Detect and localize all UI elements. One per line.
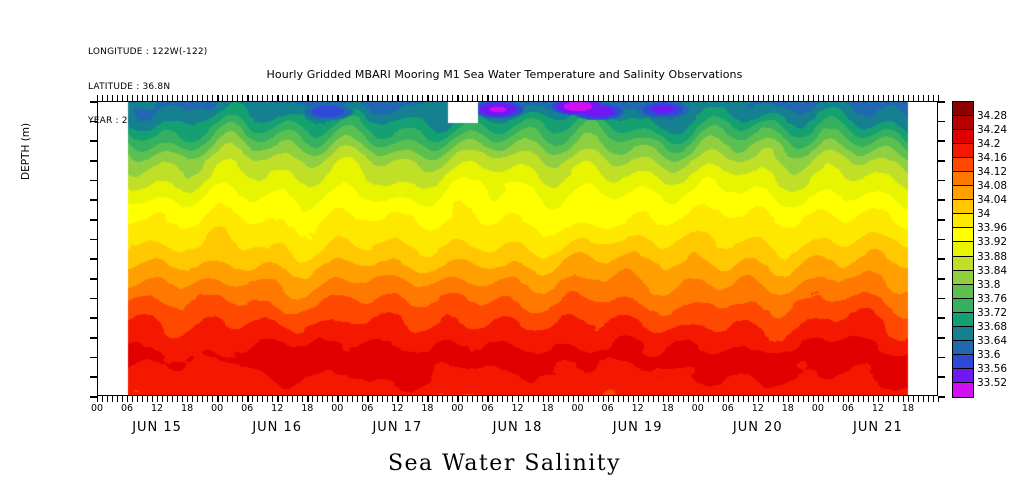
x-tick bbox=[477, 95, 478, 101]
x-tick bbox=[407, 95, 408, 101]
x-tick bbox=[803, 95, 804, 101]
x-tick bbox=[482, 95, 483, 101]
x-tick bbox=[137, 396, 138, 402]
x-tick bbox=[142, 396, 143, 402]
x-tick bbox=[698, 95, 699, 101]
x-tick bbox=[758, 396, 759, 402]
x-tick bbox=[708, 95, 709, 101]
x-tick bbox=[763, 95, 764, 101]
x-tick bbox=[287, 396, 288, 402]
colorbar-band bbox=[953, 228, 973, 242]
x-tick bbox=[157, 95, 158, 101]
x-tick bbox=[317, 396, 318, 402]
x-tick bbox=[422, 396, 423, 402]
x-tick bbox=[778, 396, 779, 402]
x-tick bbox=[402, 95, 403, 101]
colorbar-tick-label: 33.96 bbox=[977, 222, 1007, 234]
x-tick bbox=[518, 396, 519, 402]
x-tick bbox=[397, 95, 398, 101]
x-tick bbox=[372, 396, 373, 402]
x-tick bbox=[758, 95, 759, 101]
x-tick bbox=[312, 396, 313, 402]
x-tick bbox=[858, 95, 859, 101]
x-tick bbox=[442, 95, 443, 101]
x-tick bbox=[843, 95, 844, 101]
x-tick bbox=[903, 396, 904, 402]
x-tick bbox=[603, 95, 604, 101]
x-tick bbox=[863, 396, 864, 402]
x-tick bbox=[232, 95, 233, 101]
x-hour-label: 06 bbox=[481, 403, 493, 414]
x-tick bbox=[447, 95, 448, 101]
x-tick bbox=[312, 95, 313, 101]
colorbar-band bbox=[953, 144, 973, 158]
x-day-label: JUN 16 bbox=[252, 420, 302, 435]
x-tick bbox=[708, 396, 709, 402]
x-tick bbox=[202, 396, 203, 402]
x-tick bbox=[583, 396, 584, 402]
x-hour-label: 06 bbox=[722, 403, 734, 414]
x-tick bbox=[568, 95, 569, 101]
x-tick bbox=[502, 396, 503, 402]
y-tick bbox=[938, 258, 945, 260]
x-axis-ticks-top bbox=[97, 95, 938, 101]
x-tick bbox=[728, 95, 729, 101]
x-hour-label: 18 bbox=[421, 403, 433, 414]
x-tick bbox=[523, 95, 524, 101]
x-tick bbox=[242, 95, 243, 101]
x-tick bbox=[623, 396, 624, 402]
x-tick bbox=[753, 95, 754, 101]
x-day-label: JUN 15 bbox=[132, 420, 182, 435]
x-tick bbox=[878, 95, 879, 101]
colorbar-tick-label: 33.64 bbox=[977, 335, 1007, 347]
x-tick bbox=[152, 396, 153, 402]
x-tick bbox=[347, 396, 348, 402]
x-tick bbox=[673, 95, 674, 101]
x-tick bbox=[102, 396, 103, 402]
x-tick bbox=[553, 396, 554, 402]
y-tick bbox=[938, 376, 945, 378]
x-tick bbox=[703, 396, 704, 402]
x-tick bbox=[382, 95, 383, 101]
x-tick bbox=[137, 95, 138, 101]
x-tick bbox=[743, 396, 744, 402]
x-tick bbox=[492, 396, 493, 402]
x-tick bbox=[688, 396, 689, 402]
x-tick bbox=[457, 396, 458, 402]
x-tick bbox=[247, 396, 248, 402]
x-tick bbox=[477, 396, 478, 402]
x-tick bbox=[392, 95, 393, 101]
x-tick bbox=[342, 396, 343, 402]
x-tick bbox=[257, 95, 258, 101]
x-tick bbox=[147, 396, 148, 402]
x-tick bbox=[467, 95, 468, 101]
y-tick bbox=[938, 199, 945, 201]
x-tick bbox=[643, 396, 644, 402]
x-tick bbox=[172, 95, 173, 101]
x-tick bbox=[518, 95, 519, 101]
y-tick bbox=[90, 140, 97, 142]
x-tick bbox=[653, 95, 654, 101]
x-hour-label: 12 bbox=[271, 403, 283, 414]
x-tick bbox=[598, 95, 599, 101]
x-tick bbox=[588, 95, 589, 101]
x-tick bbox=[272, 396, 273, 402]
x-tick bbox=[673, 396, 674, 402]
x-tick bbox=[377, 95, 378, 101]
x-tick bbox=[693, 396, 694, 402]
x-tick bbox=[773, 95, 774, 101]
x-tick bbox=[387, 95, 388, 101]
x-tick bbox=[242, 396, 243, 402]
x-tick bbox=[497, 95, 498, 101]
x-tick bbox=[808, 95, 809, 101]
x-hour-label: 06 bbox=[121, 403, 133, 414]
x-hour-label: 18 bbox=[301, 403, 313, 414]
colorbar-tick-label: 33.56 bbox=[977, 363, 1007, 375]
x-tick bbox=[573, 396, 574, 402]
x-tick bbox=[157, 396, 158, 402]
x-hour-label: 06 bbox=[361, 403, 373, 414]
x-tick bbox=[362, 396, 363, 402]
x-tick bbox=[322, 95, 323, 101]
x-tick bbox=[387, 396, 388, 402]
x-hour-label: 06 bbox=[241, 403, 253, 414]
x-tick bbox=[262, 95, 263, 101]
x-tick bbox=[928, 95, 929, 101]
longitude-label: LONGITUDE : 122W(-122) bbox=[88, 47, 208, 59]
colorbar-band bbox=[953, 271, 973, 285]
colorbar-band bbox=[953, 242, 973, 256]
x-tick bbox=[292, 396, 293, 402]
x-tick bbox=[733, 95, 734, 101]
x-tick bbox=[432, 95, 433, 101]
x-tick bbox=[918, 95, 919, 101]
x-tick bbox=[252, 95, 253, 101]
x-hour-label: 12 bbox=[151, 403, 163, 414]
x-tick bbox=[372, 95, 373, 101]
x-tick bbox=[643, 95, 644, 101]
x-axis-ticks-bottom bbox=[97, 396, 938, 402]
x-tick bbox=[908, 95, 909, 101]
x-hour-label: 12 bbox=[511, 403, 523, 414]
x-tick bbox=[147, 95, 148, 101]
latitude-label: LATITUDE : 36.8N bbox=[88, 82, 208, 94]
y-tick bbox=[938, 278, 945, 280]
x-tick bbox=[352, 396, 353, 402]
x-tick bbox=[367, 95, 368, 101]
x-tick bbox=[808, 396, 809, 402]
y-tick bbox=[938, 219, 945, 221]
x-tick bbox=[628, 396, 629, 402]
x-tick bbox=[913, 95, 914, 101]
x-tick bbox=[638, 396, 639, 402]
x-day-label: JUN 20 bbox=[733, 420, 783, 435]
x-tick bbox=[507, 396, 508, 402]
x-hour-label: 00 bbox=[211, 403, 223, 414]
x-tick bbox=[512, 396, 513, 402]
x-tick bbox=[337, 95, 338, 101]
x-tick bbox=[437, 95, 438, 101]
x-hour-label: 00 bbox=[331, 403, 343, 414]
x-tick bbox=[613, 95, 614, 101]
x-tick bbox=[97, 396, 98, 402]
x-hour-label: 06 bbox=[842, 403, 854, 414]
x-tick bbox=[397, 396, 398, 402]
x-hour-label: 12 bbox=[752, 403, 764, 414]
y-tick bbox=[938, 357, 945, 359]
x-tick bbox=[232, 396, 233, 402]
x-tick bbox=[97, 95, 98, 101]
x-tick bbox=[227, 95, 228, 101]
x-tick bbox=[327, 95, 328, 101]
colorbar bbox=[952, 101, 974, 398]
x-tick bbox=[788, 396, 789, 402]
x-hour-label: 12 bbox=[632, 403, 644, 414]
colorbar-tick-label: 34.12 bbox=[977, 166, 1007, 178]
x-tick bbox=[122, 396, 123, 402]
x-hour-label: 00 bbox=[812, 403, 824, 414]
x-tick bbox=[297, 396, 298, 402]
x-tick bbox=[237, 95, 238, 101]
x-tick bbox=[192, 95, 193, 101]
x-tick bbox=[487, 95, 488, 101]
colorbar-band bbox=[953, 355, 973, 369]
x-tick bbox=[227, 396, 228, 402]
y-tick bbox=[90, 101, 97, 103]
colorbar-tick-label: 34 bbox=[977, 208, 990, 220]
x-tick bbox=[187, 396, 188, 402]
x-tick bbox=[678, 95, 679, 101]
x-tick bbox=[788, 95, 789, 101]
x-tick bbox=[533, 95, 534, 101]
x-tick bbox=[898, 396, 899, 402]
x-tick bbox=[593, 396, 594, 402]
colorbar-tick-label: 34.24 bbox=[977, 124, 1007, 136]
colorbar-tick-label: 34.08 bbox=[977, 180, 1007, 192]
y-tick bbox=[938, 239, 945, 241]
x-tick bbox=[132, 396, 133, 402]
x-tick bbox=[282, 95, 283, 101]
x-tick bbox=[618, 95, 619, 101]
y-tick bbox=[938, 101, 945, 103]
x-tick bbox=[588, 396, 589, 402]
x-tick bbox=[703, 95, 704, 101]
x-tick bbox=[332, 95, 333, 101]
colorbar-band bbox=[953, 341, 973, 355]
x-tick bbox=[613, 396, 614, 402]
x-tick bbox=[122, 95, 123, 101]
x-tick bbox=[162, 396, 163, 402]
colorbar-band bbox=[953, 172, 973, 186]
x-tick bbox=[898, 95, 899, 101]
x-tick bbox=[833, 396, 834, 402]
x-tick bbox=[107, 95, 108, 101]
x-tick bbox=[553, 95, 554, 101]
variable-title: Sea Water Salinity bbox=[0, 451, 1009, 476]
y-tick bbox=[90, 278, 97, 280]
x-tick bbox=[543, 95, 544, 101]
x-tick bbox=[798, 396, 799, 402]
x-tick bbox=[723, 396, 724, 402]
colorbar-band bbox=[953, 383, 973, 397]
x-tick bbox=[107, 396, 108, 402]
x-tick bbox=[563, 95, 564, 101]
x-tick bbox=[282, 396, 283, 402]
x-tick bbox=[748, 95, 749, 101]
x-tick bbox=[793, 95, 794, 101]
x-hour-label: 00 bbox=[692, 403, 704, 414]
x-tick bbox=[648, 95, 649, 101]
x-tick bbox=[793, 396, 794, 402]
y-tick bbox=[90, 160, 97, 162]
x-tick bbox=[262, 396, 263, 402]
x-tick bbox=[212, 396, 213, 402]
x-tick bbox=[818, 95, 819, 101]
salinity-contour-field bbox=[97, 101, 938, 396]
x-tick bbox=[482, 396, 483, 402]
y-tick bbox=[938, 396, 945, 398]
x-tick bbox=[633, 95, 634, 101]
x-tick bbox=[182, 95, 183, 101]
colorbar-labels: 34.2834.2434.234.1634.1234.0834.043433.9… bbox=[977, 101, 1009, 398]
x-tick bbox=[633, 396, 634, 402]
x-tick bbox=[718, 95, 719, 101]
x-tick bbox=[462, 396, 463, 402]
x-tick bbox=[112, 396, 113, 402]
x-hour-label: 18 bbox=[782, 403, 794, 414]
colorbar-band bbox=[953, 327, 973, 341]
x-tick bbox=[352, 95, 353, 101]
y-tick bbox=[90, 317, 97, 319]
x-tick bbox=[573, 95, 574, 101]
x-tick bbox=[257, 396, 258, 402]
x-tick bbox=[853, 396, 854, 402]
x-hour-label: 00 bbox=[572, 403, 584, 414]
plot-area: 2060100140180220260300 bbox=[97, 101, 938, 396]
x-tick bbox=[838, 396, 839, 402]
x-tick bbox=[452, 95, 453, 101]
x-tick bbox=[668, 396, 669, 402]
x-tick bbox=[277, 396, 278, 402]
x-tick bbox=[327, 396, 328, 402]
x-tick bbox=[918, 396, 919, 402]
x-tick bbox=[528, 95, 529, 101]
x-tick bbox=[197, 95, 198, 101]
x-tick bbox=[202, 95, 203, 101]
x-tick bbox=[828, 396, 829, 402]
x-tick bbox=[813, 95, 814, 101]
x-hour-label: 06 bbox=[602, 403, 614, 414]
x-tick bbox=[457, 95, 458, 101]
y-tick bbox=[938, 160, 945, 162]
x-hour-label: 00 bbox=[91, 403, 103, 414]
colorbar-tick-label: 33.88 bbox=[977, 251, 1007, 263]
x-tick bbox=[467, 396, 468, 402]
x-tick bbox=[738, 95, 739, 101]
x-tick bbox=[753, 396, 754, 402]
x-tick bbox=[337, 396, 338, 402]
y-tick bbox=[938, 140, 945, 142]
y-tick bbox=[938, 298, 945, 300]
x-tick bbox=[357, 95, 358, 101]
x-tick bbox=[162, 95, 163, 101]
x-tick bbox=[267, 396, 268, 402]
x-tick bbox=[538, 95, 539, 101]
x-tick bbox=[623, 95, 624, 101]
x-tick bbox=[638, 95, 639, 101]
x-tick bbox=[222, 396, 223, 402]
colorbar-tick-label: 33.52 bbox=[977, 377, 1007, 389]
x-tick bbox=[843, 396, 844, 402]
x-day-label: JUN 21 bbox=[853, 420, 903, 435]
x-tick bbox=[933, 396, 934, 402]
x-day-label: JUN 17 bbox=[372, 420, 422, 435]
x-tick bbox=[923, 396, 924, 402]
x-tick bbox=[888, 95, 889, 101]
y-tick bbox=[90, 258, 97, 260]
x-tick bbox=[302, 396, 303, 402]
x-tick bbox=[813, 396, 814, 402]
colorbar-tick-label: 33.68 bbox=[977, 321, 1007, 333]
x-tick bbox=[578, 95, 579, 101]
x-tick bbox=[452, 396, 453, 402]
y-tick bbox=[938, 180, 945, 182]
x-tick bbox=[292, 95, 293, 101]
x-tick bbox=[563, 396, 564, 402]
y-tick bbox=[90, 298, 97, 300]
x-tick bbox=[683, 396, 684, 402]
x-tick bbox=[543, 396, 544, 402]
x-tick bbox=[402, 396, 403, 402]
x-tick bbox=[658, 95, 659, 101]
x-tick bbox=[177, 396, 178, 402]
x-tick bbox=[538, 396, 539, 402]
x-tick bbox=[873, 95, 874, 101]
x-tick bbox=[648, 396, 649, 402]
x-tick bbox=[733, 396, 734, 402]
x-hour-label: 00 bbox=[451, 403, 463, 414]
colorbar-band bbox=[953, 116, 973, 130]
x-tick bbox=[848, 95, 849, 101]
x-tick bbox=[432, 396, 433, 402]
x-tick bbox=[447, 396, 448, 402]
colorbar-tick-label: 33.72 bbox=[977, 307, 1007, 319]
x-tick bbox=[342, 95, 343, 101]
x-tick bbox=[502, 95, 503, 101]
x-tick bbox=[698, 396, 699, 402]
x-tick bbox=[177, 95, 178, 101]
x-tick bbox=[252, 396, 253, 402]
x-tick bbox=[497, 396, 498, 402]
x-tick bbox=[237, 396, 238, 402]
x-tick bbox=[693, 95, 694, 101]
x-tick bbox=[713, 396, 714, 402]
x-tick bbox=[763, 396, 764, 402]
x-tick bbox=[868, 396, 869, 402]
x-tick bbox=[618, 396, 619, 402]
x-tick bbox=[728, 396, 729, 402]
x-tick bbox=[768, 396, 769, 402]
colorbar-tick-label: 33.84 bbox=[977, 265, 1007, 277]
x-tick bbox=[217, 396, 218, 402]
x-tick bbox=[362, 95, 363, 101]
x-tick bbox=[442, 396, 443, 402]
x-tick bbox=[798, 95, 799, 101]
x-tick bbox=[773, 396, 774, 402]
